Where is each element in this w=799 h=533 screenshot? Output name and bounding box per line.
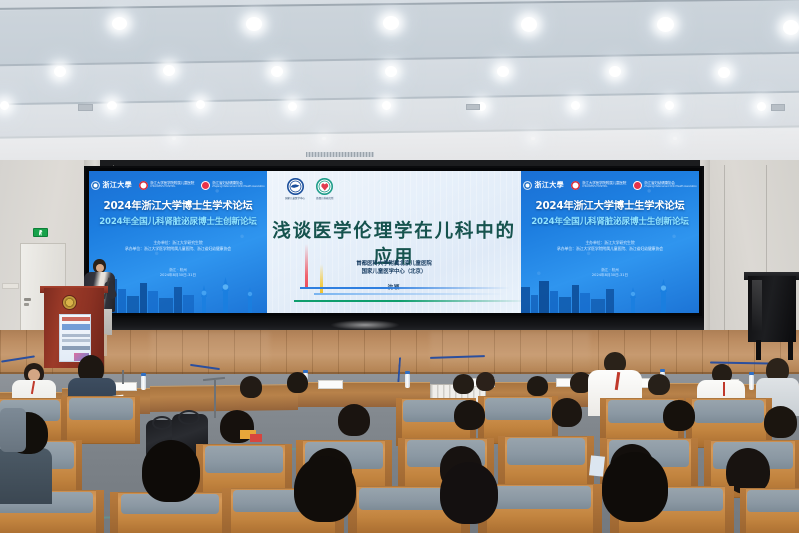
university-crest-icon: [63, 296, 76, 309]
zhejiang-university-logo: 浙江大學: [523, 180, 564, 190]
ceiling-vent: [78, 104, 93, 111]
slide-logo-caption: 首都儿科研究所: [316, 196, 334, 200]
exit-sign: [33, 228, 48, 237]
right-banner-title: 2024年浙江大学博士生学术论坛: [521, 197, 699, 212]
auditorium-chair[interactable]: [740, 488, 799, 533]
slide-decoration-red-bar: [305, 244, 308, 289]
poster-text-band: [62, 334, 90, 337]
attendee-head: [527, 376, 548, 396]
wall-switch-panel[interactable]: [2, 283, 19, 289]
water-bottle: [141, 376, 146, 390]
association-logo-sublabel: Zhejiang Maternal and Child Health Assoc…: [644, 185, 696, 189]
front-desk: [150, 384, 298, 412]
hospital-logo-label: 浙江大学医学院附属儿童医院: [582, 181, 626, 185]
hospital-logo-sublabel: CHILDREN'S HOSPITAL: [150, 185, 194, 189]
attendee-shoulder: [0, 408, 26, 452]
left-banner-subtitle: 2024年全国儿科肾脏泌尿博士生创新论坛: [89, 215, 267, 227]
childrens-hospital-logo: 浙江大学医学院附属儿童医院 CHILDREN'S HOSPITAL: [139, 181, 194, 190]
ceiling-light: [497, 66, 509, 77]
poster-text-band: [62, 339, 90, 342]
slide-decoration-green-line: [294, 300, 521, 302]
eagle-glyph-icon: [291, 184, 300, 189]
ceiling-light: [107, 101, 117, 110]
zhejiang-university-logo: 浙江大學: [91, 180, 132, 190]
speaker-face: [96, 264, 104, 272]
ceiling-light: [288, 102, 297, 111]
attendee-head: [454, 400, 485, 430]
ceiling-light: [112, 17, 127, 30]
backpack-strap: [178, 410, 200, 425]
running-man-icon: [39, 230, 43, 236]
ceiling-light: [271, 66, 283, 77]
ceiling-light: [783, 20, 799, 35]
attendee-head: [602, 452, 668, 522]
piano-leg: [788, 340, 793, 360]
ceiling-light: [531, 137, 535, 140]
slide-decoration-lightblue-line: [314, 293, 504, 295]
attendee-head: [476, 372, 495, 391]
left-banner-cohost: 承办单位：浙江大学医学院附属儿童医院、浙江省妇幼健康协会: [89, 246, 267, 252]
heart-glyph-icon: [321, 183, 329, 191]
piano-leg: [756, 340, 761, 360]
microphone-stand: [214, 380, 216, 418]
ceiling-light: [718, 67, 730, 78]
stage-edge-reflection: [330, 320, 400, 330]
attendee-head: [338, 404, 370, 436]
slide-decoration-blue-line: [300, 287, 510, 289]
ceiling-light: [172, 137, 176, 140]
bottle-cap: [660, 369, 665, 372]
lecture-hall-photo: 浙江大學 浙江大学医学院附属儿童医院 CHILDREN'S HOSPITAL 浙…: [0, 0, 799, 533]
left-banner-title: 2024年浙江大学博士生学术论坛: [89, 197, 267, 212]
slide-logos: 国家儿童医学中心 首都儿科研究所: [285, 178, 334, 200]
attendee-head: [663, 400, 695, 431]
association-logo-label: 浙江省妇幼健康协会: [212, 181, 243, 185]
attendee-head: [142, 440, 200, 502]
attendee-head: [440, 462, 498, 524]
microphone-stand: [122, 370, 124, 384]
ceiling-light: [383, 16, 399, 30]
right-banner-panel: 浙江大學 浙江大学医学院附属儿童医院 CHILDREN'S HOSPITAL 浙…: [521, 171, 699, 313]
backpack-strap: [152, 416, 172, 430]
attendee-head: [764, 406, 797, 438]
auditorium-chair[interactable]: [62, 396, 140, 444]
poster-text-band: [62, 346, 90, 350]
association-logo-label: 浙江省妇幼健康协会: [644, 181, 675, 185]
hospital-crest-icon: [139, 181, 148, 190]
bottle-cap: [405, 371, 410, 374]
national-center-emblem-icon: [287, 178, 304, 195]
association-crest-icon: [633, 181, 642, 190]
zju-crest-icon: [91, 181, 100, 190]
skyline-graphic: [521, 271, 699, 313]
hospital-crest-icon: [571, 181, 580, 190]
ceiling-light: [322, 137, 326, 140]
ceiling-vent: [771, 104, 785, 111]
ceiling-light: [665, 101, 674, 110]
hospital-emblem-icon: [316, 178, 333, 195]
bottle-cap: [749, 372, 754, 375]
hospital-logo-sublabel: CHILDREN'S HOSPITAL: [582, 185, 626, 189]
association-crest-icon: [201, 181, 210, 190]
health-association-logo: 浙江省妇幼健康协会 Zhejiang Maternal and Child He…: [201, 181, 264, 190]
wall-seam: [766, 165, 767, 275]
ceiling-light: [0, 101, 9, 110]
attendee-torso: [0, 448, 52, 504]
led-video-wall: 浙江大學 浙江大学医学院附属儿童医院 CHILDREN'S HOSPITAL 浙…: [84, 166, 704, 318]
personal-item: [250, 434, 262, 442]
ceiling-light: [757, 102, 766, 111]
right-banner-subtitle: 2024年全国儿科肾脏泌尿博士生创新论坛: [521, 215, 699, 227]
zju-crest-icon: [523, 181, 532, 190]
name-card: [318, 380, 343, 389]
ceiling-light: [521, 17, 537, 32]
slide-logo-caption: 国家儿童医学中心: [285, 196, 305, 200]
ceiling-light: [657, 17, 674, 32]
bottle-cap: [141, 373, 146, 376]
slide-decoration-yellow-bar: [320, 264, 323, 294]
ceiling-light: [571, 101, 580, 110]
association-logo-sublabel: Zhejiang Maternal and Child Health Assoc…: [212, 185, 264, 189]
attendee-head: [240, 376, 262, 398]
lanyard: [723, 382, 725, 396]
attendee-head: [552, 398, 582, 427]
right-banner-cohost: 承办单位：浙江大学医学院附属儿童医院、浙江省妇幼健康协会: [521, 246, 699, 252]
water-bottle: [405, 374, 410, 388]
right-banner-logos: 浙江大學 浙江大学医学院附属儿童医院 CHILDREN'S HOSPITAL 浙…: [521, 171, 699, 190]
bottle-cap: [303, 370, 308, 373]
ceiling-vent: [466, 104, 480, 110]
floor-reflection: [430, 332, 590, 376]
ceiling-light: [673, 137, 677, 140]
ceiling-air-grille: [306, 152, 374, 157]
attendee-head: [648, 374, 670, 395]
health-association-logo: 浙江省妇幼健康协会 Zhejiang Maternal and Child He…: [633, 181, 696, 190]
ceiling-light: [382, 101, 391, 110]
attendee-head: [294, 456, 356, 522]
ceiling-light: [246, 17, 262, 31]
ceiling-light: [609, 66, 621, 77]
poster-title-band: [62, 324, 90, 330]
door-handle[interactable]: [24, 298, 31, 301]
attendee-head: [453, 374, 474, 394]
ceiling: [0, 0, 799, 168]
ceiling-light: [163, 65, 175, 76]
hospital-logo-label: 浙江大学医学院附属儿童医院: [150, 181, 194, 185]
beijing-childrens-hospital-logo: 首都儿科研究所: [316, 178, 334, 200]
door-lock: [24, 303, 29, 306]
childrens-hospital-logo: 浙江大学医学院附属儿童医院 CHILDREN'S HOSPITAL: [571, 181, 626, 190]
left-banner-logos: 浙江大學 浙江大学医学院附属儿童医院 CHILDREN'S HOSPITAL 浙…: [89, 171, 267, 190]
handout: [589, 455, 605, 476]
presentation-slide: 国家儿童医学中心 首都儿科研究所 浅谈医学伦理学在儿科中的应用 首都医科大学附属…: [267, 171, 521, 313]
ceiling-light: [54, 66, 66, 77]
ceiling-light: [196, 100, 205, 109]
piano-highlight: [752, 280, 762, 332]
water-bottle: [749, 375, 754, 390]
floor-reflection: [150, 332, 270, 376]
national-center-childrens-health-logo: 国家儿童医学中心: [285, 178, 305, 200]
attendee-head: [287, 372, 308, 393]
poster-header-band: [62, 317, 90, 321]
ceiling-light: [385, 66, 397, 77]
